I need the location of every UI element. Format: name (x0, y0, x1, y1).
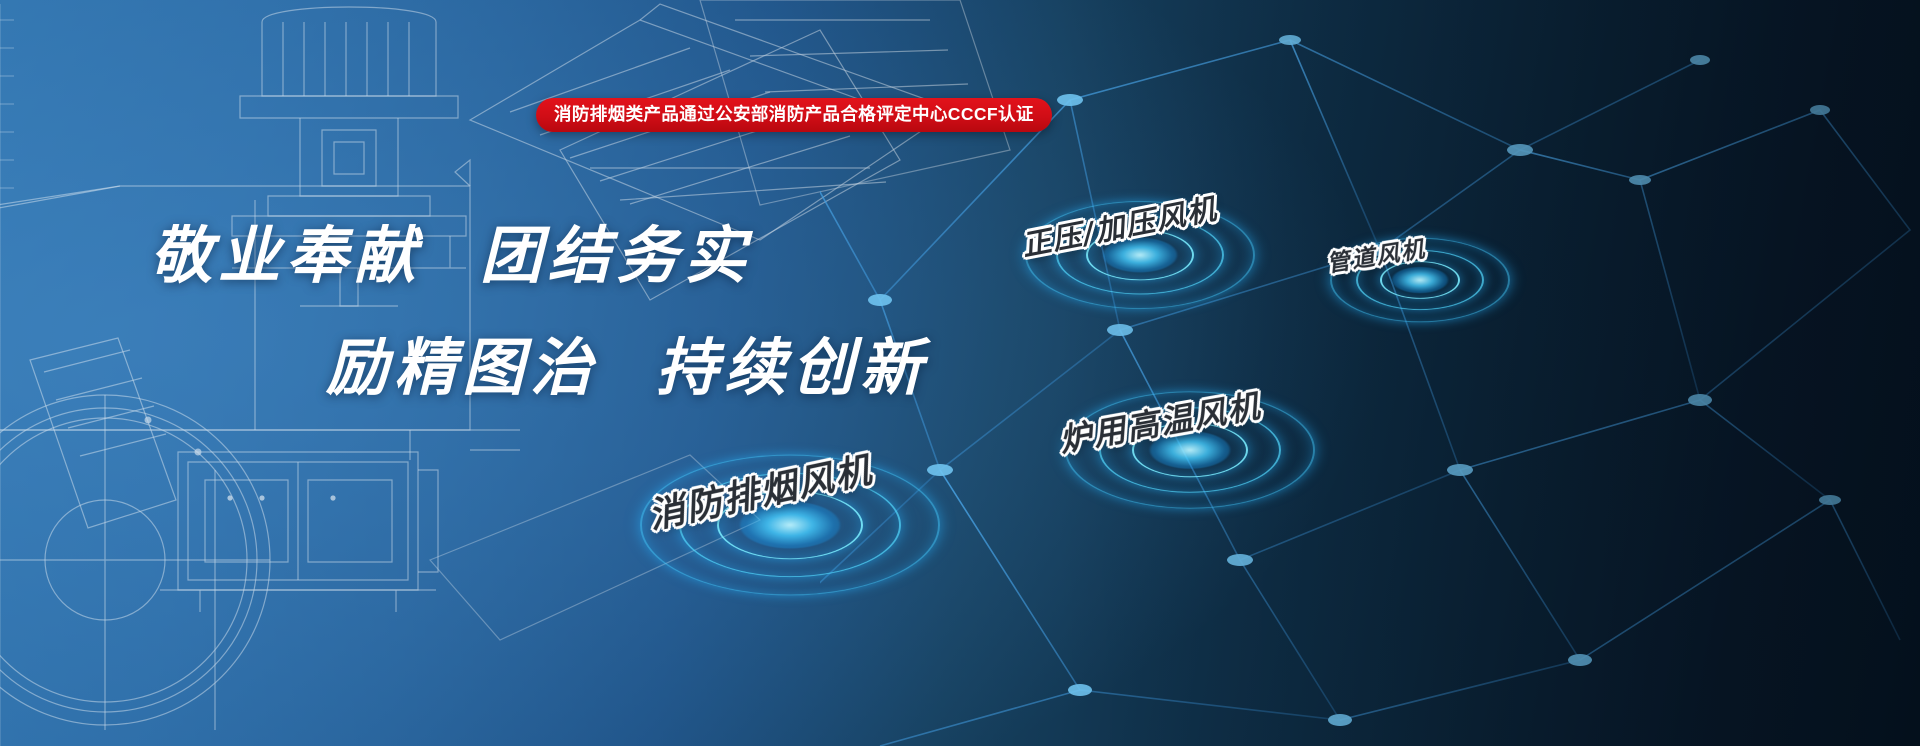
product-hotspot-furnace-fan[interactable]: 炉用高温风机 (1030, 370, 1350, 530)
slogan-block: 敬业奉献 团结务实 励精图治 持续创新 (150, 205, 928, 407)
certification-text: 消防排烟类产品通过公安部消防产品合格评定中心CCCF认证 (554, 106, 1034, 124)
product-hotspot-pressure-fan[interactable]: 正压/加压风机 (990, 180, 1290, 330)
product-hotspot-duct-fan[interactable]: 管道风机 (1300, 215, 1540, 345)
slogan-line2-part2: 持续创新 (656, 317, 928, 407)
slogan-line2-part1: 励精图治 (326, 317, 598, 407)
product-label-furnace-fan: 炉用高温风机 (1056, 381, 1265, 462)
certification-banner[interactable]: 消防排烟类产品通过公安部消防产品合格评定中心CCCF认证 (536, 98, 1052, 132)
slogan-line-2: 励精图治 持续创新 (326, 317, 928, 407)
product-label-pressure-fan: 正压/加压风机 (1018, 185, 1221, 264)
product-label-duct-fan: 管道风机 (1324, 229, 1428, 278)
product-label-smoke-exhaust-fan: 消防排烟风机 (643, 441, 877, 539)
product-hotspot-smoke-exhaust-fan[interactable]: 消防排烟风机 (610, 430, 970, 620)
slogan-line-1: 敬业奉献 团结务实 (150, 205, 928, 295)
slogan-line1-part2: 团结务实 (480, 205, 752, 295)
hero-banner: 消防排烟类产品通过公安部消防产品合格评定中心CCCF认证 敬业奉献 团结务实 励… (0, 0, 1920, 746)
slogan-line1-part1: 敬业奉献 (150, 205, 422, 295)
